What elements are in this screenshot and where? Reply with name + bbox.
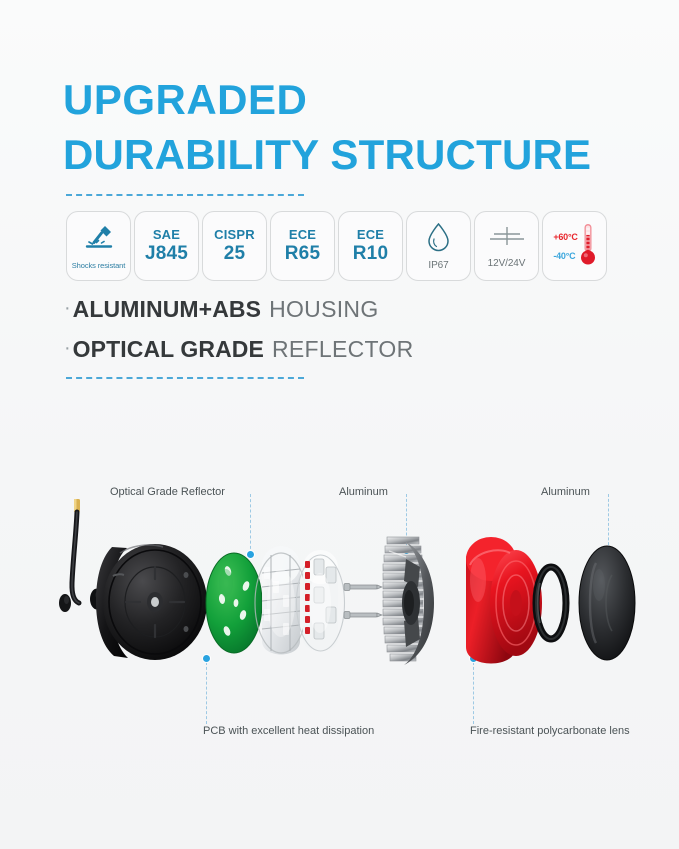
green-pcb <box>206 553 262 653</box>
bullet-icon: · <box>64 338 71 358</box>
battery-icon <box>487 224 527 255</box>
black-back-cover <box>579 546 635 660</box>
badge-caption: 12V/24V <box>488 258 526 269</box>
badge-label: CISPR 25 <box>214 228 255 264</box>
divider-bottom <box>66 377 304 379</box>
badge-sae-j845: SAE J845 <box>134 211 199 281</box>
thermometer-labels: +60°C -40°C <box>553 232 577 261</box>
temp-min-label: -40°C <box>553 251 577 261</box>
thermometer-group: +60°C -40°C <box>553 221 595 272</box>
hammer-icon <box>82 223 116 258</box>
clear-reflector-ring <box>255 546 307 655</box>
certification-badge-row: Shocks resistant SAE J845 CISPR 25 ECE R… <box>66 211 607 281</box>
badge-line-2: J845 <box>145 243 188 264</box>
exploded-product-diagram <box>0 455 679 765</box>
badge-caption: IP67 <box>428 260 448 271</box>
badge-line-2: R65 <box>285 243 320 264</box>
aluminum-heatsink <box>383 537 434 665</box>
red-lens <box>466 537 542 664</box>
title-line-1: UPGRADED <box>63 72 643 127</box>
badge-label: SAE J845 <box>145 228 188 264</box>
feature-item-reflector: · OPTICAL GRADE REFLECTOR <box>64 336 414 363</box>
badge-caption: Shocks resistant <box>72 261 125 270</box>
badge-shocks-resistant: Shocks resistant <box>66 211 131 281</box>
feature-light-text: REFLECTOR <box>272 336 414 363</box>
power-cable <box>72 499 80 603</box>
led-ring <box>297 550 345 651</box>
badge-line-1: CISPR <box>214 228 255 243</box>
bullet-icon: · <box>64 298 71 318</box>
feature-light-text: HOUSING <box>269 296 378 323</box>
badge-ip67: IP67 <box>406 211 471 281</box>
feature-strong-text: OPTICAL GRADE <box>73 336 264 363</box>
badge-cispr-25: CISPR 25 <box>202 211 267 281</box>
badge-line-1: ECE <box>353 228 388 243</box>
thermometer-icon <box>580 221 596 272</box>
badge-line-1: ECE <box>285 228 320 243</box>
feature-item-housing: · ALUMINUM+ABS HOUSING <box>64 296 414 323</box>
badge-label: ECE R65 <box>285 228 320 264</box>
badge-line-2: 25 <box>214 243 255 264</box>
infographic-page: UPGRADED DURABILITY STRUCTURE Shocks res… <box>0 0 679 849</box>
black-housing <box>96 544 219 660</box>
badge-temperature: +60°C -40°C <box>542 211 607 281</box>
screws <box>344 584 382 619</box>
badge-ece-r65: ECE R65 <box>270 211 335 281</box>
feature-list: · ALUMINUM+ABS HOUSING · OPTICAL GRADE R… <box>64 296 414 376</box>
temp-max-label: +60°C <box>553 232 577 242</box>
badge-label: ECE R10 <box>353 228 388 264</box>
feature-strong-text: ALUMINUM+ABS <box>73 296 261 323</box>
title-line-2: DURABILITY STRUCTURE <box>63 127 643 182</box>
badge-ece-r10: ECE R10 <box>338 211 403 281</box>
page-title: UPGRADED DURABILITY STRUCTURE <box>63 72 643 183</box>
badge-line-1: SAE <box>145 228 188 243</box>
divider-top <box>66 194 304 196</box>
water-drop-icon <box>425 221 452 257</box>
badge-voltage: 12V/24V <box>474 211 539 281</box>
badge-line-2: R10 <box>353 243 388 264</box>
